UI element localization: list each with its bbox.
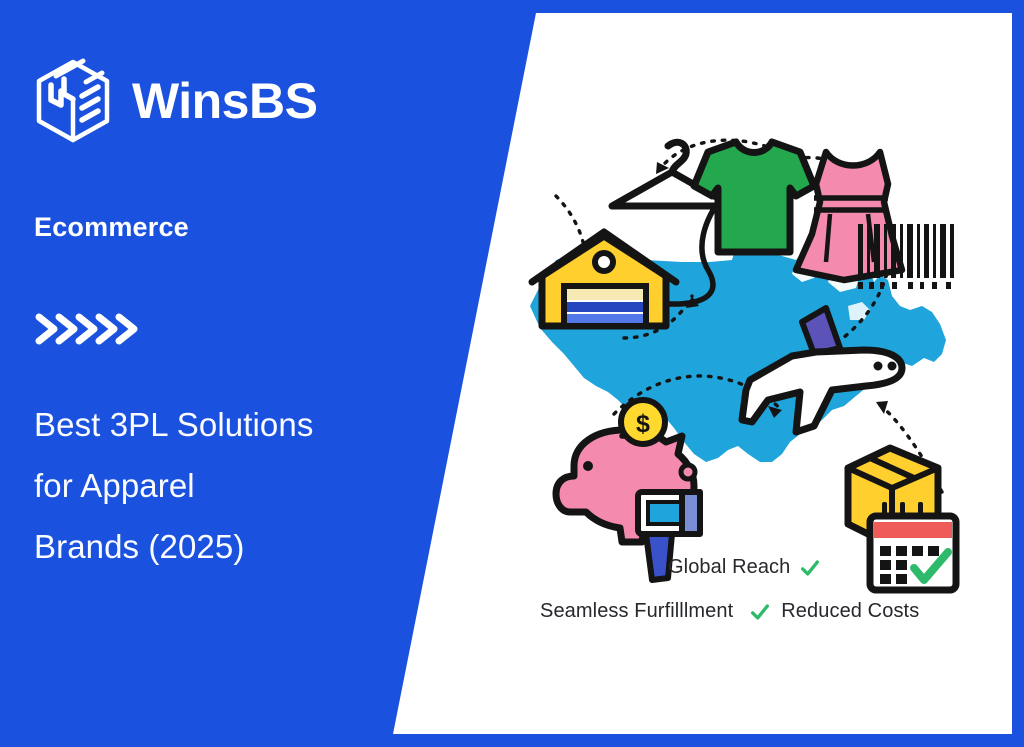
tshirt-icon xyxy=(694,142,814,252)
brand-column: WinsBS Ecommerce Best 3PL Solutions for … xyxy=(0,0,400,747)
headline-line-2: for Apparel xyxy=(34,455,384,516)
category-kicker: Ecommerce xyxy=(34,212,189,243)
caption-reduced-costs: Reduced Costs xyxy=(749,600,919,623)
caption-global-reach-label: Global Reach xyxy=(668,556,790,579)
chevrons-right-icon xyxy=(33,306,153,352)
svg-text:$: $ xyxy=(636,410,650,438)
caption-seamless-fulfillment-label: Seamless Furfilllment xyxy=(540,600,733,623)
brand-lockup: WinsBS xyxy=(34,58,317,144)
caption-reduced-costs-label: Reduced Costs xyxy=(781,600,919,623)
check-icon xyxy=(749,601,771,623)
warehouse-icon xyxy=(532,232,676,326)
poster-canvas: $ xyxy=(0,0,1024,747)
dotted-arrow-icon xyxy=(556,196,584,246)
check-icon xyxy=(799,557,821,579)
dollar-coin-icon: $ xyxy=(621,400,665,444)
cube-box-logo-icon xyxy=(34,58,112,144)
caption-row-bottom: Seamless Furfilllment Reduced Costs xyxy=(540,600,919,623)
headline-line-1: Best 3PL Solutions xyxy=(34,394,384,455)
feature-captions: Global Reach Seamless Furfilllment Reduc… xyxy=(520,556,990,646)
caption-global-reach: Global Reach xyxy=(668,556,821,579)
headline-line-3: Brands (2025) xyxy=(34,516,384,577)
page-title: Best 3PL Solutions for Apparel Brands (2… xyxy=(34,394,384,577)
brand-name: WinsBS xyxy=(132,76,317,126)
